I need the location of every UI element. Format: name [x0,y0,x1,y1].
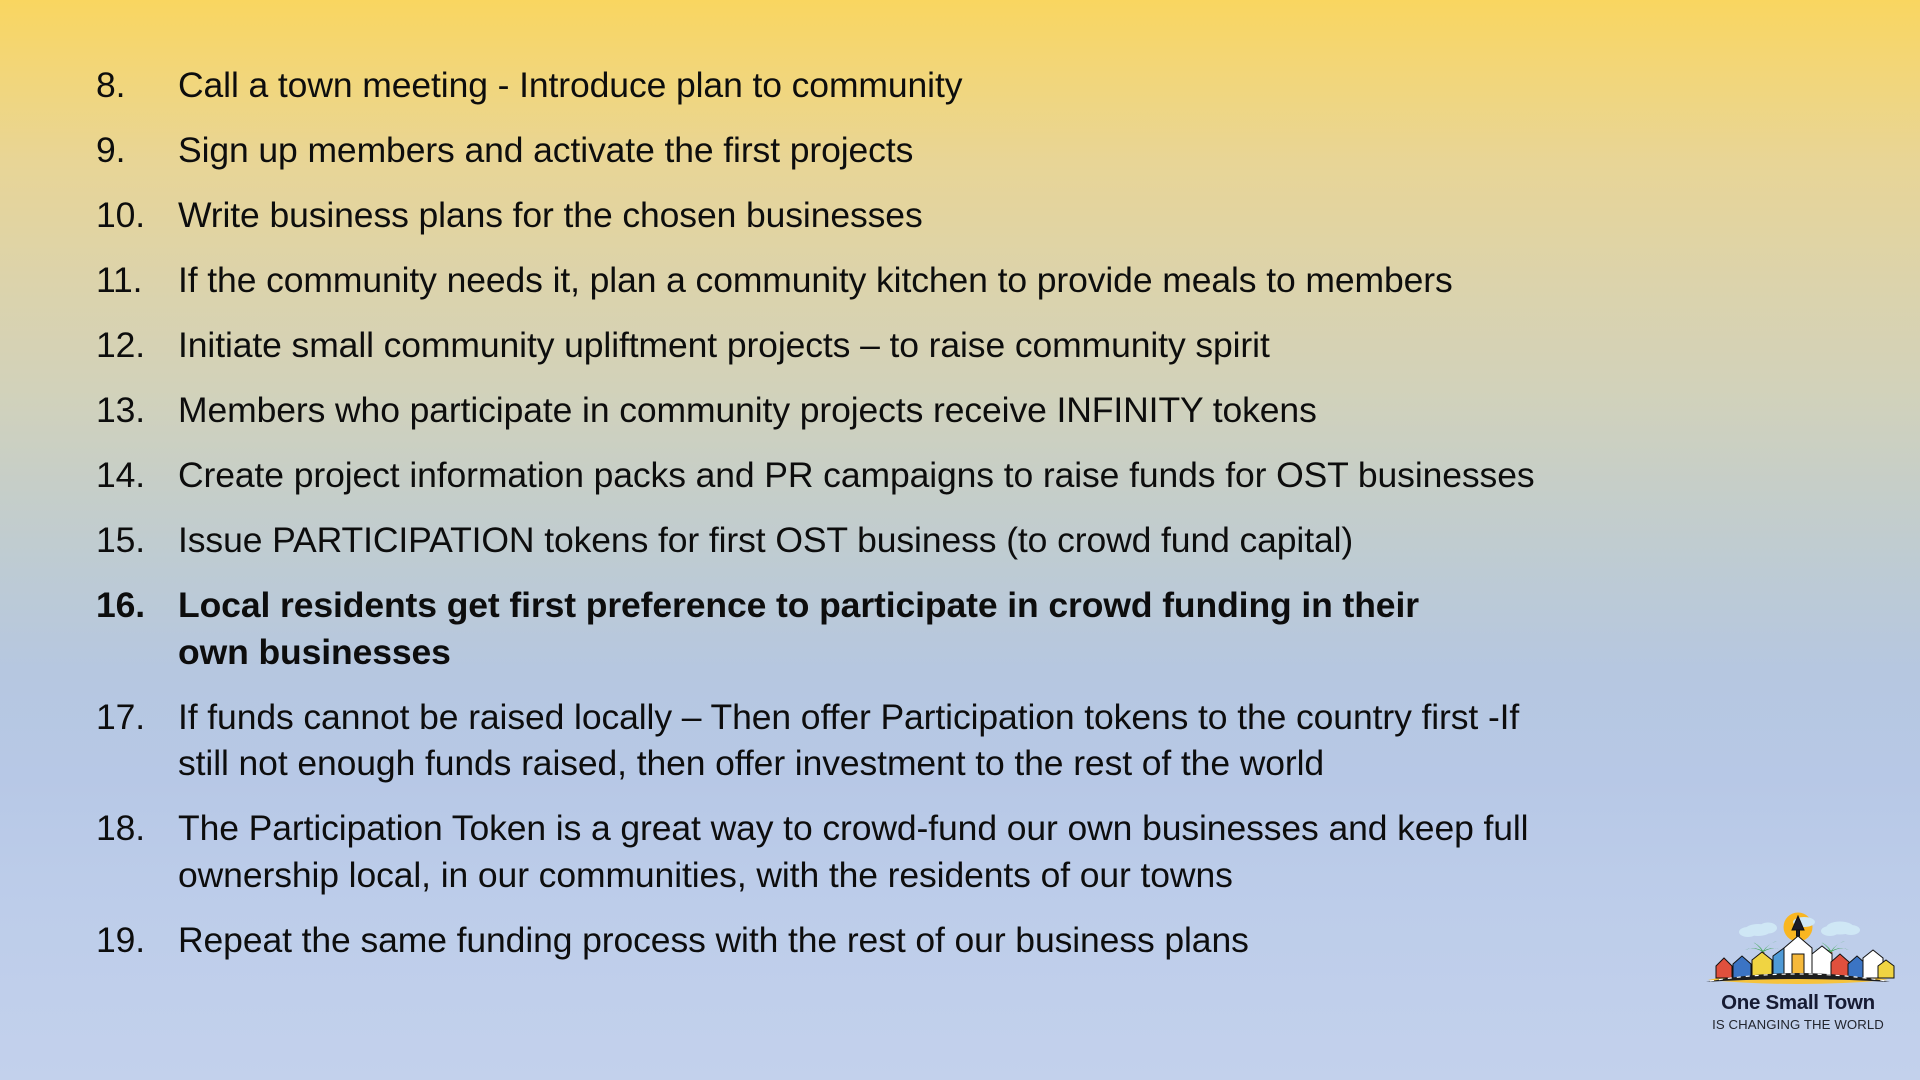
list-item-text: The Participation Token is a great way t… [178,805,1543,898]
list-item: 15. Issue PARTICIPATION tokens for first… [96,517,1816,564]
logo-name: One Small Town [1700,991,1896,1015]
list-item: 8. Call a town meeting - Introduce plan … [96,62,1816,109]
list-item-number: 10. [96,192,178,239]
list-item-number: 13. [96,387,178,434]
list-item-text: Repeat the same funding process with the… [178,917,1816,964]
list-item: 19. Repeat the same funding process with… [96,917,1816,964]
logo: One Small Town IS CHANGING THE WORLD [1700,908,1896,1032]
list-item-text: Members who participate in community pro… [178,387,1816,434]
list-item-number: 18. [96,805,178,852]
list-item-number: 11. [96,257,178,304]
list-item-text: Sign up members and activate the first p… [178,127,1816,174]
list-item-number: 8. [96,62,178,109]
list-item-text: Call a town meeting - Introduce plan to … [178,62,1816,109]
list-item-number: 16. [96,582,178,629]
list-item-highlighted: 16. Local residents get first preference… [96,582,1816,675]
list-item-number: 17. [96,694,178,741]
list-item: 9. Sign up members and activate the firs… [96,127,1816,174]
slide-canvas: 8. Call a town meeting - Introduce plan … [0,0,1920,1080]
list-item-number: 14. [96,452,178,499]
town-skyline-icon [1700,908,1896,990]
list-item-text: Local residents get first preference to … [178,582,1488,675]
list-item-text: If the community needs it, plan a commun… [178,257,1816,304]
list-item-number: 9. [96,127,178,174]
list-item-text: Initiate small community upliftment proj… [178,322,1816,369]
list-item-number: 19. [96,917,178,964]
list-item-number: 12. [96,322,178,369]
list-item: 12. Initiate small community upliftment … [96,322,1816,369]
list-item: 14. Create project information packs and… [96,452,1816,499]
list-item-text: Write business plans for the chosen busi… [178,192,1816,239]
list-item-text: Create project information packs and PR … [178,452,1816,499]
list-item: 18. The Participation Token is a great w… [96,805,1816,898]
list-item: 17. If funds cannot be raised locally – … [96,694,1816,787]
numbered-step-list: 8. Call a town meeting - Introduce plan … [96,62,1816,982]
list-item-text: If funds cannot be raised locally – Then… [178,694,1578,787]
logo-tagline: IS CHANGING THE WORLD [1700,1017,1896,1032]
list-item-number: 15. [96,517,178,564]
list-item: 11. If the community needs it, plan a co… [96,257,1816,304]
list-item: 10. Write business plans for the chosen … [96,192,1816,239]
list-item: 13. Members who participate in community… [96,387,1816,434]
list-item-text: Issue PARTICIPATION tokens for first OST… [178,517,1816,564]
